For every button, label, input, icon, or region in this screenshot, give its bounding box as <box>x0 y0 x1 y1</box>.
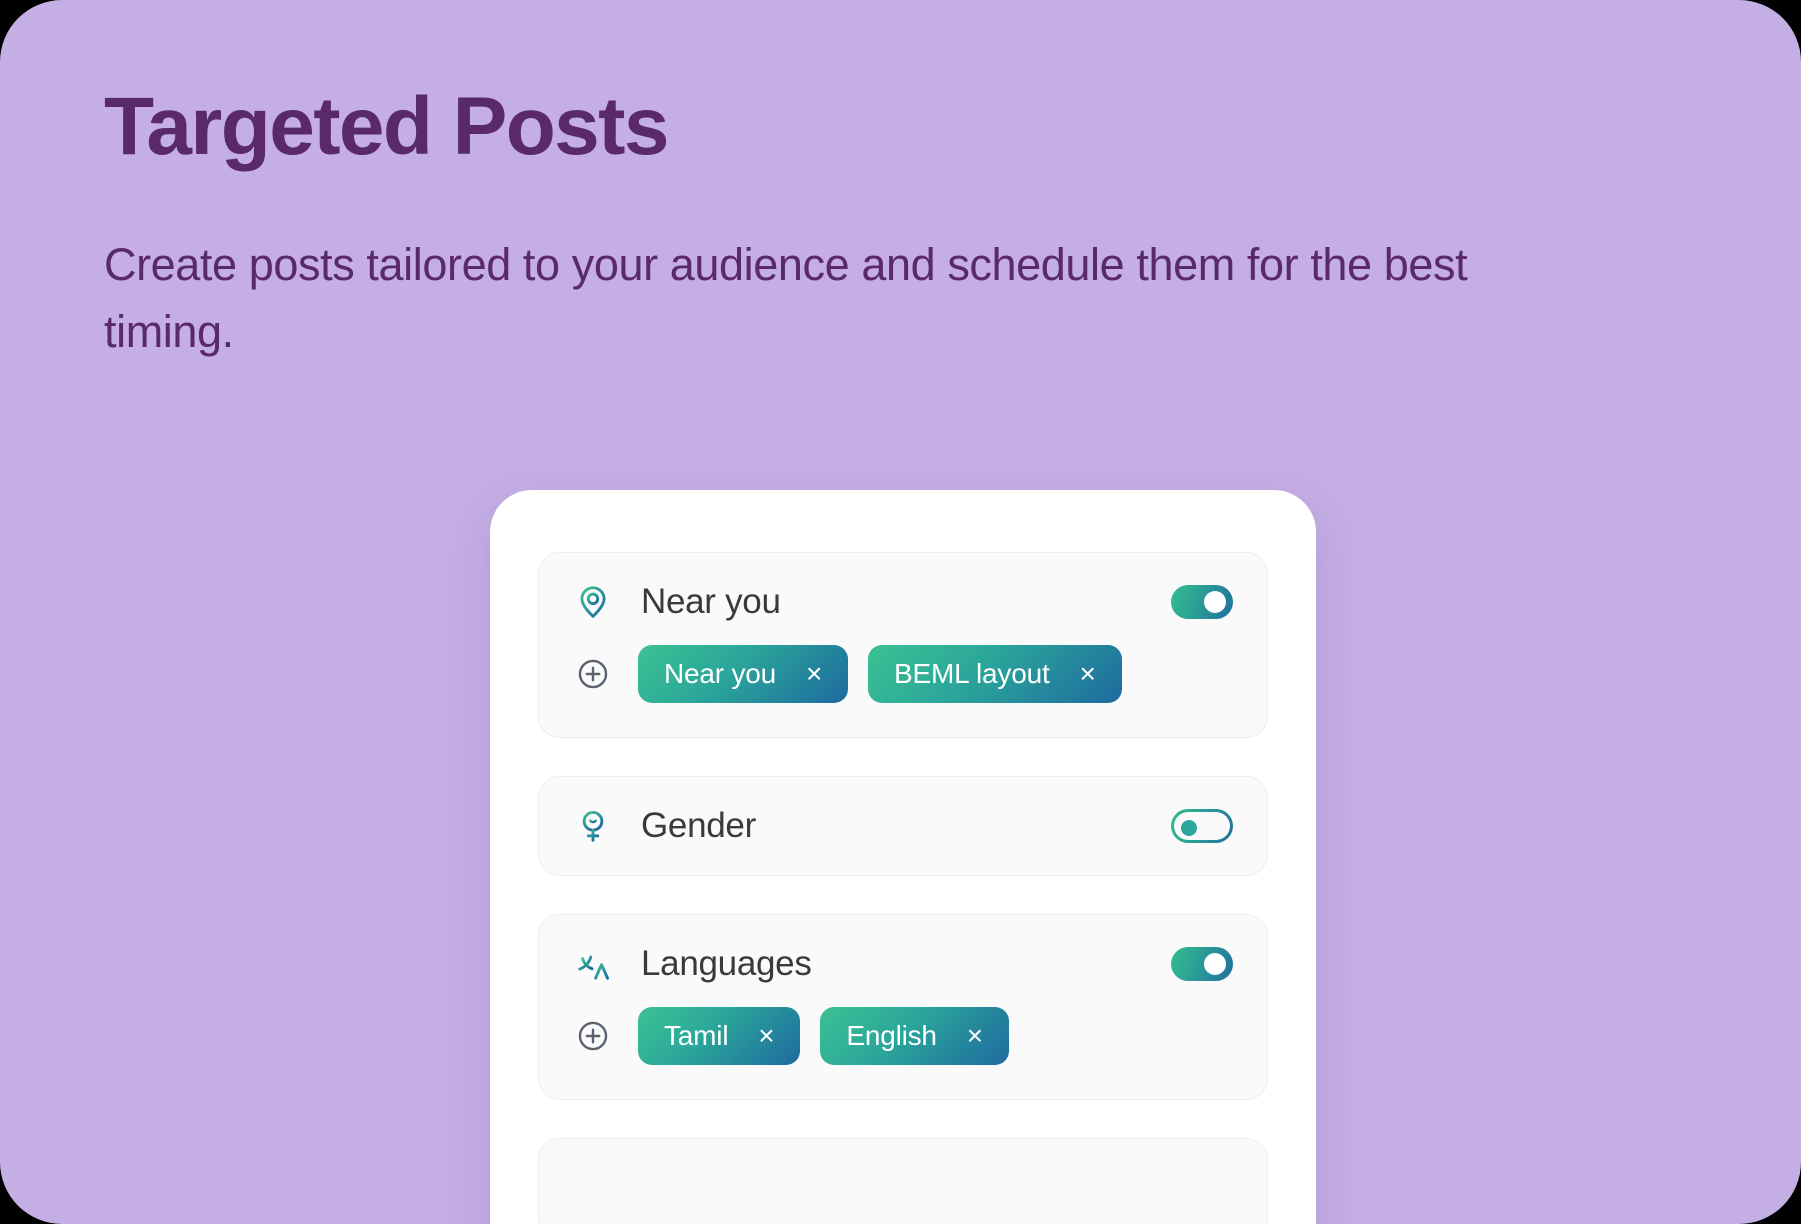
page-title: Targeted Posts <box>104 86 1724 168</box>
add-circle-icon[interactable] <box>576 1019 610 1053</box>
tag-chip[interactable]: English × <box>820 1007 1008 1065</box>
page-subtitle: Create posts tailored to your audience a… <box>104 232 1604 365</box>
tag-label: BEML layout <box>894 658 1050 690</box>
card-header-row: Languages <box>573 915 1233 1013</box>
tag-row-near-you: Near you × BEML layout × <box>573 645 1233 737</box>
gender-icon <box>573 806 613 846</box>
tag-label: English <box>846 1020 936 1052</box>
card-header-row: Near you <box>573 553 1233 651</box>
add-circle-icon[interactable] <box>576 657 610 691</box>
app-screen: Targeted Posts Create posts tailored to … <box>0 0 1801 1224</box>
tag-label: Near you <box>664 658 776 690</box>
setting-card-gender[interactable]: Gender <box>538 776 1268 876</box>
close-icon[interactable]: × <box>963 1024 987 1048</box>
location-pin-icon <box>573 582 613 622</box>
card-label: Gender <box>641 806 1171 846</box>
card-header-row: Gender <box>573 777 1233 875</box>
tag-label: Tamil <box>664 1020 728 1052</box>
close-icon[interactable]: × <box>1076 662 1100 686</box>
tag-chip[interactable]: Near you × <box>638 645 848 703</box>
tag-chip[interactable]: BEML layout × <box>868 645 1122 703</box>
card-label: Languages <box>641 944 1171 984</box>
toggle-gender[interactable] <box>1171 809 1233 843</box>
close-icon[interactable]: × <box>802 662 826 686</box>
tag-chip[interactable]: Tamil × <box>638 1007 800 1065</box>
tag-row-languages: Tamil × English × <box>573 1007 1233 1099</box>
card-header-row <box>573 1139 1233 1224</box>
targeting-panel: Near you Near you × BEML layout × <box>490 490 1316 1224</box>
setting-card-near-you[interactable]: Near you Near you × BEML layout × <box>538 552 1268 738</box>
setting-card-languages[interactable]: Languages Tamil × English × <box>538 914 1268 1100</box>
close-icon[interactable]: × <box>754 1024 778 1048</box>
heading-block: Targeted Posts Create posts tailored to … <box>104 86 1724 365</box>
toggle-near-you[interactable] <box>1171 585 1233 619</box>
setting-card-partial[interactable] <box>538 1138 1268 1224</box>
translate-icon <box>573 944 613 984</box>
card-label: Near you <box>641 582 1171 622</box>
toggle-languages[interactable] <box>1171 947 1233 981</box>
